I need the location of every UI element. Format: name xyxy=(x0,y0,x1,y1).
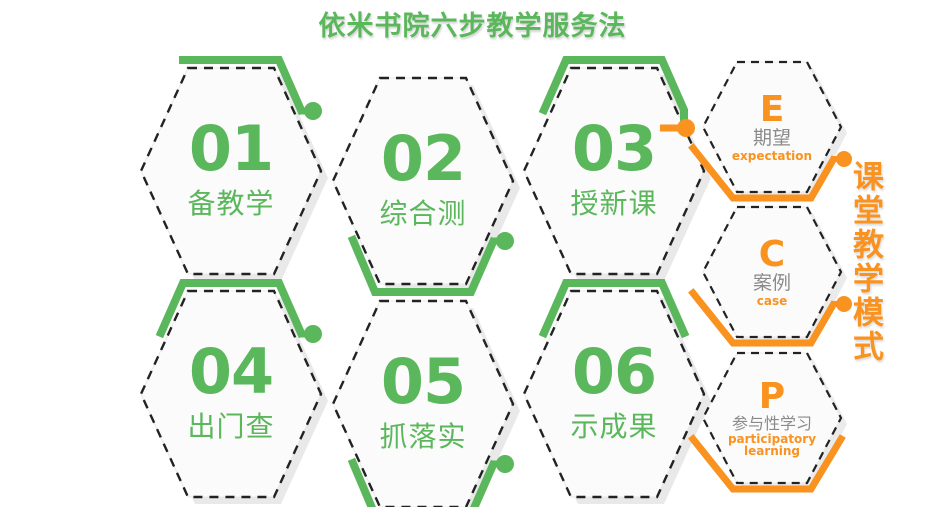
step-card-03[interactable]: 03 授新课 xyxy=(516,58,712,284)
hexagon-shape-01 xyxy=(133,58,329,284)
model-card-c[interactable]: C 案例 case xyxy=(697,201,847,343)
hexagon-shape-05 xyxy=(325,291,521,507)
model-card-e[interactable]: E 期望 expectation xyxy=(697,56,847,198)
step-card-06[interactable]: 06 示成果 xyxy=(516,281,712,507)
hexagon-shape-06 xyxy=(516,281,712,507)
hexagon-shape-02 xyxy=(325,68,521,294)
page-title: 依米书院六步教学服务法 xyxy=(0,4,945,43)
side-vertical-label: 课堂教学模式 xyxy=(848,160,888,364)
model-card-p[interactable]: P 参与性学习 participatory learning xyxy=(697,347,847,489)
hexagon-shape-p xyxy=(697,347,847,489)
hexagon-shape-03 xyxy=(516,58,712,284)
step-card-04[interactable]: 04 出门查 xyxy=(133,281,329,507)
hexagon-shape-04 xyxy=(133,281,329,507)
infographic-canvas: 依米书院六步教学服务法 01 备教学 02 综合测 xyxy=(0,0,945,507)
step-card-05[interactable]: 05 抓落实 xyxy=(325,291,521,507)
step-card-01[interactable]: 01 备教学 xyxy=(133,58,329,284)
step-card-02[interactable]: 02 综合测 xyxy=(325,68,521,294)
hexagon-shape-c xyxy=(697,201,847,343)
hexagon-shape-e xyxy=(697,56,847,198)
